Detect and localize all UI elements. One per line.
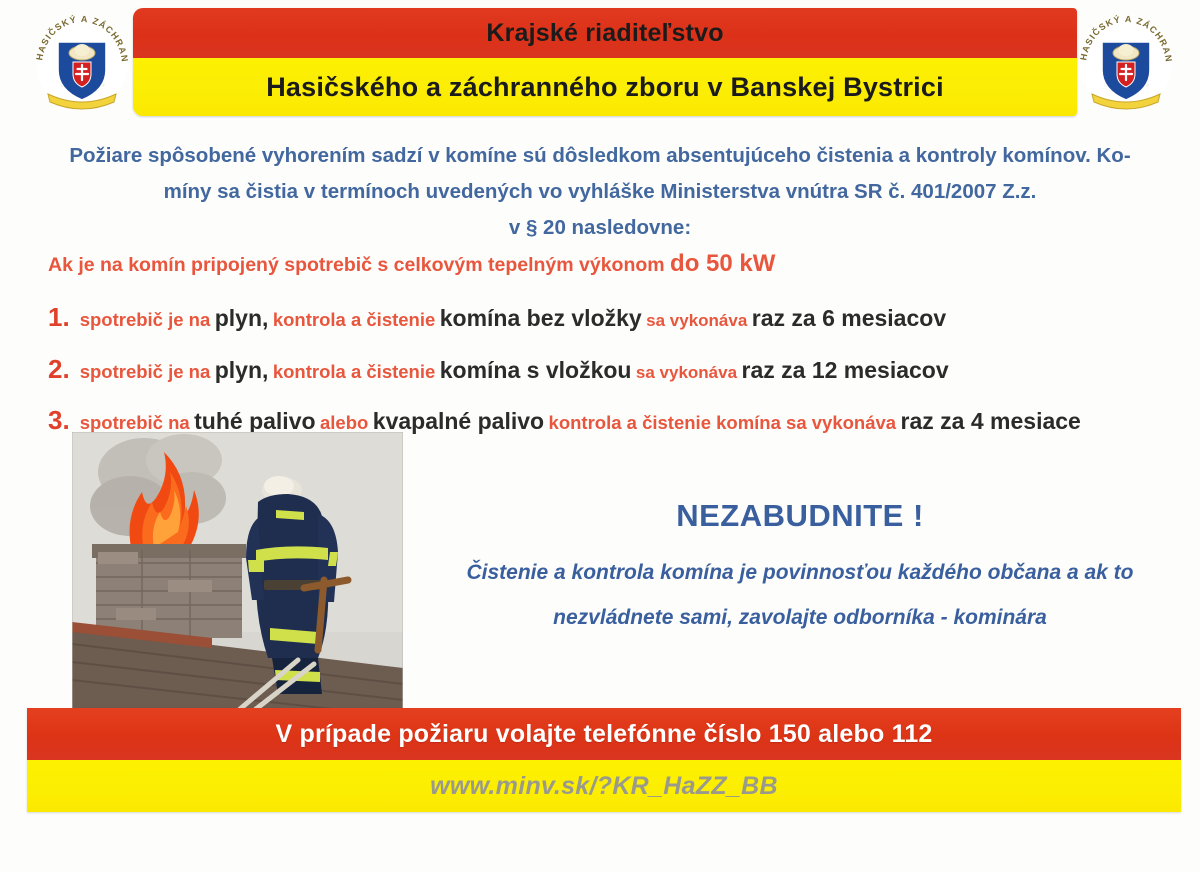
power-rating-emphasis: do 50 kW (670, 250, 775, 277)
list-item-segment: plyn, (215, 305, 269, 331)
list-item: 2.spotrebič je na plyn, kontrola a čiste… (48, 354, 949, 385)
header-red-band: Krajské riaditeľstvo (133, 8, 1077, 58)
list-item-segment: spotrebič je na (80, 309, 211, 330)
list-item-segment: alebo (320, 412, 368, 433)
list-item-segment: kontrola a čistenie (273, 309, 435, 330)
list-item-segment: tuhé palivo (194, 408, 315, 434)
power-rating-heading: Ak je na komín pripojený spotrebič s cel… (48, 250, 775, 278)
hasicsky-a-zachranny-zbor-emblem-icon: HASIČSKÝ A ZÁCHRANNÝ ZBOR (28, 4, 136, 124)
list-item-segment: komína bez vložky (440, 305, 642, 331)
list-item-segment: sa vykonáva (646, 311, 747, 330)
list-item-segment: kontrola a čistenie komína sa vykonáva (549, 412, 897, 433)
list-item-segment: spotrebič na (80, 412, 190, 433)
footer-red-band: V prípade požiaru volajte telefónne čísl… (27, 708, 1181, 760)
list-item: 1.spotrebič je na plyn, kontrola a čiste… (48, 302, 946, 333)
list-item-segment: komína s vložkou (440, 357, 632, 383)
list-item-number: 2. (48, 354, 70, 384)
list-item-segment: kvapalné palivo (373, 408, 544, 434)
footer-banner: V prípade požiaru volajte telefónne čísl… (27, 708, 1181, 812)
hasicsky-a-zachranny-zbor-emblem-icon: HASIČSKÝ A ZÁCHRANNÝ ZBOR (1072, 4, 1180, 124)
footer-yellow-band: www.minv.sk/?KR_HaZZ_BB (27, 760, 1181, 812)
list-item-number: 1. (48, 302, 70, 332)
list-item-segment: plyn, (215, 357, 269, 383)
list-item-segment: raz za 12 mesiacov (742, 357, 949, 383)
list-item-segment: sa vykonáva (636, 363, 737, 382)
website-url[interactable]: www.minv.sk/?KR_HaZZ_BB (430, 772, 778, 801)
intro-line-1: Požiare spôsobené vyhorením sadzí v komí… (46, 138, 1154, 174)
list-item-segment: raz za 6 mesiacov (752, 305, 946, 331)
list-item-segment: raz za 4 mesiace (901, 408, 1081, 434)
reminder-line-2: nezvládnete sami, zavolajte odborníka - … (424, 595, 1176, 640)
list-item-segment: kontrola a čistenie (273, 361, 435, 382)
header-banner: Krajské riaditeľstvo Hasičského a záchra… (133, 8, 1077, 116)
list-item-segment: spotrebič je na (80, 361, 211, 382)
reminder-body: Čistenie a kontrola komína je povinnosťo… (424, 550, 1176, 640)
emergency-phone-text: V prípade požiaru volajte telefónne čísl… (275, 720, 932, 749)
reminder-line-1: Čistenie a kontrola komína je povinnosťo… (424, 550, 1176, 595)
power-rating-prefix: Ak je na komín pripojený spotrebič s cel… (48, 254, 665, 276)
fire-safety-poster: HASIČSKÝ A ZÁCHRANNÝ ZBOR (0, 0, 1200, 872)
header-title-line2: Hasičského a záchranného zboru v Banskej… (266, 72, 944, 103)
intro-line-3: v § 20 nasledovne: (46, 210, 1154, 246)
firefighter-on-roof-photo (72, 432, 403, 709)
intro-paragraph: Požiare spôsobené vyhorením sadzí v komí… (46, 138, 1154, 246)
reminder-title: NEZABUDNITE ! (430, 498, 1170, 534)
header-yellow-band: Hasičského a záchranného zboru v Banskej… (133, 58, 1077, 116)
header-title-line1: Krajské riaditeľstvo (486, 19, 723, 48)
intro-line-2: míny sa čistia v termínoch uvedených vo … (46, 174, 1154, 210)
list-item-number: 3. (48, 405, 70, 435)
